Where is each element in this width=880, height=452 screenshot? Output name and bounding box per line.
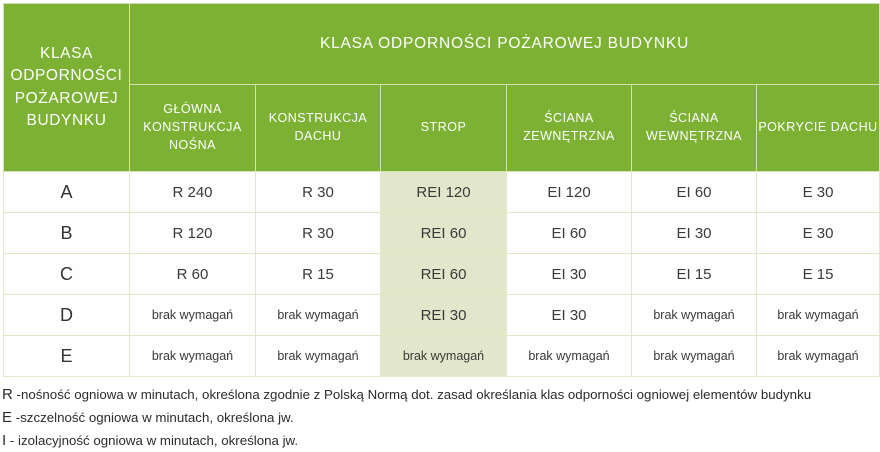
table-header-row-top: KLASA ODPORNOŚCI POŻAROWEJ BUDYNKU KLASA… bbox=[4, 4, 880, 85]
column-header-label: ŚCIANA WEWNĘTRZNA bbox=[646, 111, 742, 143]
cell-sciana-wewnetrzna: brak wymagań bbox=[632, 336, 757, 377]
cell-strop: REI 60 bbox=[381, 254, 507, 295]
cell-value: brak wymagań bbox=[277, 308, 358, 322]
column-header-strop: STROP bbox=[381, 85, 507, 172]
corner-header-label: KLASA ODPORNOŚCI POŻAROWEJ BUDYNKU bbox=[11, 45, 123, 129]
cell-value: REI 60 bbox=[421, 225, 467, 242]
cell-value: EI 120 bbox=[547, 184, 590, 201]
cell-glowna-konstrukcja-nosna: R 120 bbox=[130, 213, 256, 254]
column-header-sciana-wewnetrzna: ŚCIANA WEWNĘTRZNA bbox=[632, 85, 757, 172]
cell-pokrycie-dachu: E 15 bbox=[757, 254, 880, 295]
column-header-glowna-konstrukcja-nosna: GŁÓWNA KONSTRUKCJA NOŚNA bbox=[130, 85, 256, 172]
cell-value: EI 30 bbox=[676, 225, 711, 242]
cell-value: R 30 bbox=[302, 225, 334, 242]
cell-strop: REI 30 bbox=[381, 295, 507, 336]
cell-value: EI 15 bbox=[676, 266, 711, 283]
cell-pokrycie-dachu: E 30 bbox=[757, 213, 880, 254]
cell-konstrukcja-dachu: R 30 bbox=[256, 172, 381, 213]
row-class-label: B bbox=[4, 213, 130, 254]
cell-sciana-wewnetrzna: EI 60 bbox=[632, 172, 757, 213]
cell-value: brak wymagań bbox=[777, 308, 858, 322]
footnote-key: E bbox=[2, 409, 12, 426]
class-value: B bbox=[60, 223, 72, 243]
cell-value: R 120 bbox=[172, 225, 212, 242]
cell-value: E 30 bbox=[803, 184, 834, 201]
table-row: E brak wymagań brak wymagań brak wymagań… bbox=[4, 336, 880, 377]
table-row: B R 120 R 30 REI 60 EI 60 EI 30 bbox=[4, 213, 880, 254]
fire-resistance-class-table-page: KLASA ODPORNOŚCI POŻAROWEJ BUDYNKU KLASA… bbox=[0, 3, 880, 446]
column-header-label: POKRYCIE DACHU bbox=[758, 120, 877, 134]
cell-value: brak wymagań bbox=[152, 349, 233, 363]
cell-konstrukcja-dachu: R 30 bbox=[256, 213, 381, 254]
cell-glowna-konstrukcja-nosna: brak wymagań bbox=[130, 336, 256, 377]
column-header-sciana-zewnetrzna: ŚCIANA ZEWNĘTRZNA bbox=[507, 85, 632, 172]
cell-sciana-wewnetrzna: EI 30 bbox=[632, 213, 757, 254]
column-header-label: KONSTRUKCJA DACHU bbox=[269, 111, 368, 143]
cell-konstrukcja-dachu: R 15 bbox=[256, 254, 381, 295]
row-class-label: D bbox=[4, 295, 130, 336]
cell-value: brak wymagań bbox=[777, 349, 858, 363]
cell-sciana-wewnetrzna: brak wymagań bbox=[632, 295, 757, 336]
group-header-label: KLASA ODPORNOŚCI POŻAROWEJ BUDYNKU bbox=[320, 35, 689, 52]
cell-sciana-zewnetrzna: EI 60 bbox=[507, 213, 632, 254]
cell-konstrukcja-dachu: brak wymagań bbox=[256, 295, 381, 336]
cell-strop: REI 120 bbox=[381, 172, 507, 213]
column-header-label: ŚCIANA ZEWNĘTRZNA bbox=[523, 111, 615, 143]
cell-value: EI 60 bbox=[676, 184, 711, 201]
cell-pokrycie-dachu: E 30 bbox=[757, 172, 880, 213]
class-value: A bbox=[60, 182, 72, 202]
cell-pokrycie-dachu: brak wymagań bbox=[757, 295, 880, 336]
corner-header-cell: KLASA ODPORNOŚCI POŻAROWEJ BUDYNKU bbox=[4, 4, 130, 172]
table-row: A R 240 R 30 REI 120 EI 120 EI 60 bbox=[4, 172, 880, 213]
class-value: D bbox=[60, 305, 73, 325]
table-row: C R 60 R 15 REI 60 EI 30 EI 15 E bbox=[4, 254, 880, 295]
column-header-konstrukcja-dachu: KONSTRUKCJA DACHU bbox=[256, 85, 381, 172]
cell-value: brak wymagań bbox=[528, 349, 609, 363]
cell-value: R 15 bbox=[302, 266, 334, 283]
cell-sciana-zewnetrzna: EI 30 bbox=[507, 295, 632, 336]
cell-value: REI 30 bbox=[421, 307, 467, 324]
cell-value: brak wymagań bbox=[277, 349, 358, 363]
column-header-label: STROP bbox=[421, 120, 467, 134]
cell-sciana-zewnetrzna: brak wymagań bbox=[507, 336, 632, 377]
cell-sciana-zewnetrzna: EI 30 bbox=[507, 254, 632, 295]
cell-glowna-konstrukcja-nosna: brak wymagań bbox=[130, 295, 256, 336]
cell-sciana-wewnetrzna: EI 15 bbox=[632, 254, 757, 295]
footnote-key: R bbox=[2, 386, 13, 403]
cell-value: REI 60 bbox=[421, 266, 467, 283]
cell-glowna-konstrukcja-nosna: R 240 bbox=[130, 172, 256, 213]
cell-value: R 60 bbox=[177, 266, 209, 283]
cell-value: brak wymagań bbox=[653, 349, 734, 363]
row-class-label: A bbox=[4, 172, 130, 213]
footnote-key: I bbox=[2, 432, 6, 449]
cell-value: R 30 bbox=[302, 184, 334, 201]
cell-value: EI 30 bbox=[551, 307, 586, 324]
footnote-e: E -szczelność ogniowa w minutach, określ… bbox=[2, 407, 880, 430]
cell-glowna-konstrukcja-nosna: R 60 bbox=[130, 254, 256, 295]
row-class-label: C bbox=[4, 254, 130, 295]
class-value: C bbox=[60, 264, 73, 284]
cell-value: REI 120 bbox=[416, 184, 470, 201]
footnote-r: R -nośność ogniowa w minutach, określona… bbox=[2, 384, 880, 407]
cell-konstrukcja-dachu: brak wymagań bbox=[256, 336, 381, 377]
table-footnotes: R -nośność ogniowa w minutach, określona… bbox=[2, 384, 880, 452]
footnote-text: - izolacyjność ogniowa w minutach, okreś… bbox=[10, 433, 298, 448]
footnote-text: -nośność ogniowa w minutach, określona z… bbox=[17, 387, 812, 402]
footnote-text: -szczelność ogniowa w minutach, określon… bbox=[16, 410, 294, 425]
column-header-pokrycie-dachu: POKRYCIE DACHU bbox=[757, 85, 880, 172]
cell-strop: REI 60 bbox=[381, 213, 507, 254]
cell-value: EI 30 bbox=[551, 266, 586, 283]
cell-value: EI 60 bbox=[551, 225, 586, 242]
cell-value: brak wymagań bbox=[653, 308, 734, 322]
cell-value: E 15 bbox=[803, 266, 834, 283]
cell-pokrycie-dachu: brak wymagań bbox=[757, 336, 880, 377]
table-header-row-sub: GŁÓWNA KONSTRUKCJA NOŚNA KONSTRUKCJA DAC… bbox=[4, 85, 880, 172]
cell-sciana-zewnetrzna: EI 120 bbox=[507, 172, 632, 213]
column-header-label: GŁÓWNA KONSTRUKCJA NOŚNA bbox=[143, 102, 242, 152]
footnote-i: I - izolacyjność ogniowa w minutach, okr… bbox=[2, 430, 880, 452]
cell-value: brak wymagań bbox=[152, 308, 233, 322]
table-row: D brak wymagań brak wymagań REI 30 EI 30… bbox=[4, 295, 880, 336]
fire-resistance-table: KLASA ODPORNOŚCI POŻAROWEJ BUDYNKU KLASA… bbox=[3, 3, 880, 377]
cell-strop: brak wymagań bbox=[381, 336, 507, 377]
cell-value: brak wymagań bbox=[403, 349, 484, 363]
class-value: E bbox=[60, 346, 72, 366]
group-header-cell: KLASA ODPORNOŚCI POŻAROWEJ BUDYNKU bbox=[130, 4, 880, 85]
cell-value: E 30 bbox=[803, 225, 834, 242]
row-class-label: E bbox=[4, 336, 130, 377]
cell-value: R 240 bbox=[172, 184, 212, 201]
